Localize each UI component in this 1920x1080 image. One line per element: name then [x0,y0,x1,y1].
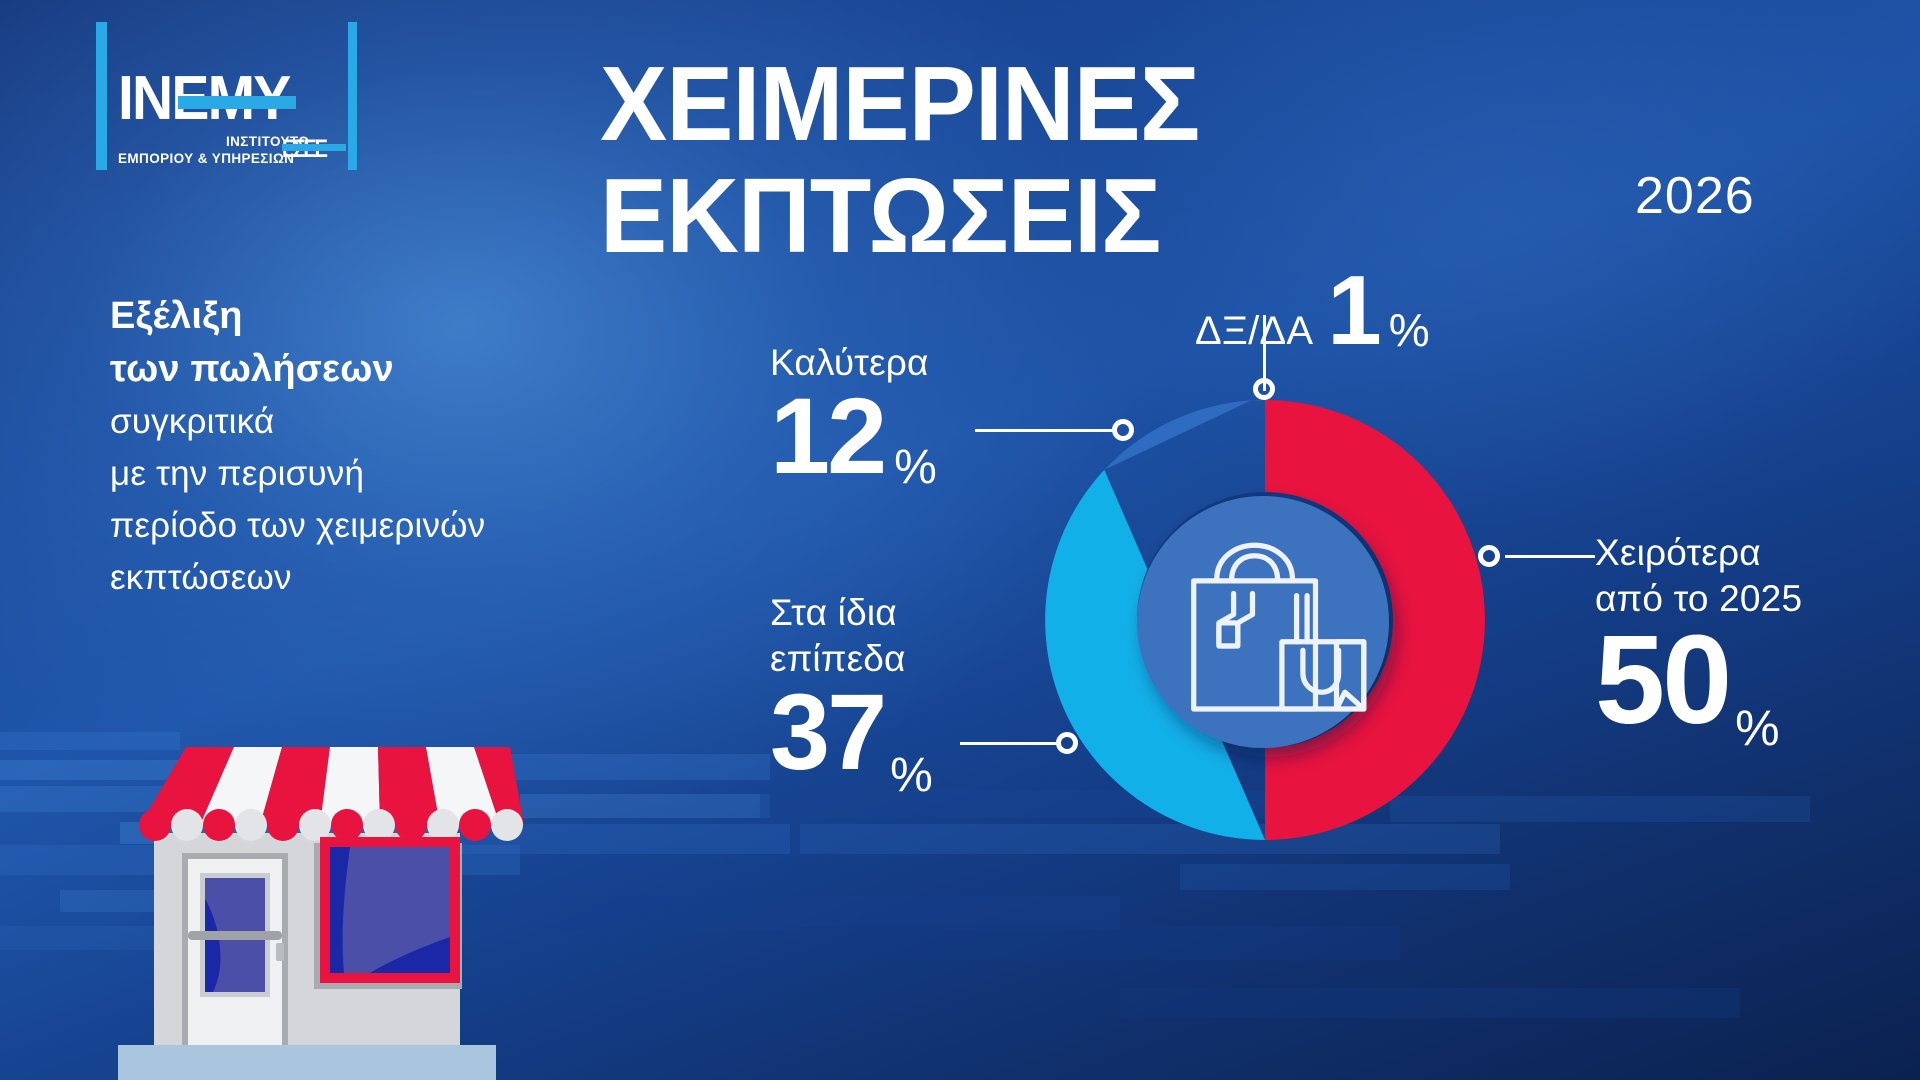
logo-accent-stripe [178,96,296,109]
infographic-canvas: INEMY ΙΝΣΤΙΤΟΥΤΟ ΕΜΠΟΡΙΟΥ & ΥΠΗΡΕΣΙΩΝ ΕΣ… [0,0,1920,1080]
callout-dont-know-value: 1 [1327,265,1379,355]
callout-same-value: 37 [770,682,884,781]
callout-dont-know: ΔΞ/ΔΑ 1 % [1195,265,1430,355]
logo-subtitle-line2: ΕΜΠΟΡΙΟΥ & ΥΠΗΡΕΣΙΩΝ [118,151,294,166]
callout-same-label-1: Στα ίδια [770,590,933,636]
leader-line-same [960,742,1060,745]
esee-accent-stripe [282,144,346,151]
page-title: ΧΕΙΜΕΡΙΝΕΣ ΕΚΠΤΩΣΕΙΣ [600,48,1740,272]
inemy-logo: INEMY ΙΝΣΤΙΤΟΥΤΟ ΕΜΠΟΡΙΟΥ & ΥΠΗΡΕΣΙΩΝ ΕΣ… [96,14,378,174]
callout-worse: Χειρότερα από το 2025 50 % [1595,530,1802,738]
storefront-illustration [118,725,548,1080]
callout-dont-know-label: ΔΞ/ΔΑ [1195,308,1313,354]
callout-better: Καλύτερα 12 % [770,340,937,485]
intro-line-6: εκπτώσεων [110,552,730,604]
intro-text-block: Εξέλιξη των πωλήσεων συγκριτικά με την π… [110,290,730,604]
donut-chart [1020,375,1510,865]
marker-dont-know [1253,378,1275,400]
year-label: 2026 [1635,168,1755,224]
intro-line-4: με την περισυνή [110,448,730,500]
callout-same: Στα ίδια επίπεδα 37 % [770,590,933,781]
callout-worse-unit: % [1735,699,1779,757]
intro-line-5: περίοδο των χειμερινών [110,500,730,552]
callout-better-unit: % [894,440,937,495]
marker-better [1112,419,1134,441]
callout-dont-know-unit: % [1389,303,1430,357]
logo-accent-bar-left [96,22,107,170]
leader-line-better [975,429,1115,432]
intro-line-3: συγκριτικά [110,396,730,448]
callout-worse-label-1: Χειρότερα [1595,530,1802,576]
intro-line-1: Εξέλιξη [110,290,730,343]
intro-line-2: των πωλήσεων [110,343,730,396]
marker-same [1056,732,1078,754]
leader-line-worse [1505,555,1595,558]
marker-worse [1478,545,1500,567]
callout-better-value: 12 [770,386,884,485]
callout-worse-value: 50 [1595,622,1729,738]
callout-same-unit: % [890,748,933,803]
logo-accent-bar-right [348,22,357,170]
